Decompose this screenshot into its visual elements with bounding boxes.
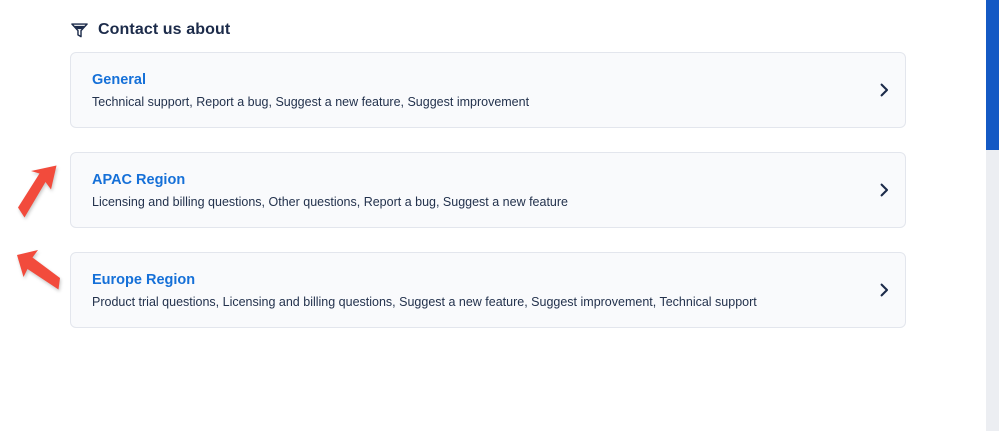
annotation-arrow-up-right xyxy=(16,162,64,224)
card-title: General xyxy=(92,71,857,89)
contact-category-card-europe-region[interactable]: Europe Region Product trial questions, L… xyxy=(70,252,906,328)
card-body: APAC Region Licensing and billing questi… xyxy=(71,171,905,210)
card-description: Product trial questions, Licensing and b… xyxy=(92,294,857,310)
card-body: Europe Region Product trial questions, L… xyxy=(71,271,905,310)
page-title: Contact us about xyxy=(98,20,230,40)
card-body: General Technical support, Report a bug,… xyxy=(71,71,905,110)
section-header: Contact us about xyxy=(70,19,230,41)
annotation-arrow-down-right xyxy=(14,245,64,293)
card-description: Licensing and billing questions, Other q… xyxy=(92,194,857,210)
card-description: Technical support, Report a bug, Suggest… xyxy=(92,94,857,110)
page-content: Contact us about General Technical suppo… xyxy=(0,0,986,431)
contact-category-card-apac-region[interactable]: APAC Region Licensing and billing questi… xyxy=(70,152,906,228)
contact-category-list: General Technical support, Report a bug,… xyxy=(70,52,906,352)
card-title: Europe Region xyxy=(92,271,857,289)
contact-category-card-general[interactable]: General Technical support, Report a bug,… xyxy=(70,52,906,128)
vertical-scrollbar-track[interactable] xyxy=(986,0,999,431)
filter-funnel-icon xyxy=(70,21,89,40)
vertical-scrollbar-thumb[interactable] xyxy=(986,0,999,150)
card-title: APAC Region xyxy=(92,171,857,189)
